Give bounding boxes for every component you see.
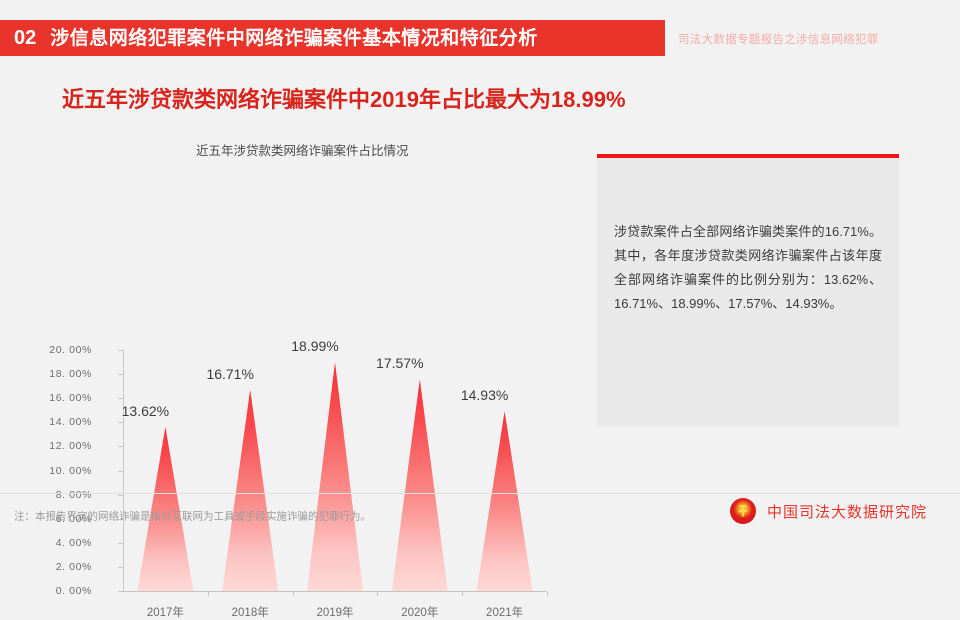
bar-2021年[interactable] xyxy=(477,411,533,591)
x-tick-mark xyxy=(293,592,294,596)
y-tick-mark xyxy=(118,591,123,592)
summary-panel-accent-bar xyxy=(597,154,899,158)
bar-2020年[interactable] xyxy=(392,379,448,591)
chart-y-axis: 20. 00%18. 00%16. 00%14. 00%12. 00%10. 0… xyxy=(20,350,104,591)
section-header-band: 02 涉信息网络犯罪案件中网络诈骗案件基本情况和特征分析 xyxy=(0,20,665,56)
y-axis-line xyxy=(123,350,124,591)
bar-value-label: 16.71% xyxy=(170,366,290,382)
bar-value-label: 17.57% xyxy=(340,355,460,371)
x-tick-label: 2021年 xyxy=(445,604,565,620)
court-emblem-icon xyxy=(730,498,756,524)
y-tick-mark xyxy=(118,422,123,423)
bar-cone xyxy=(222,390,278,591)
report-series-subtitle: 司法大数据专题报告之涉信息网络犯罪 xyxy=(678,31,879,47)
bar-cone xyxy=(392,379,448,591)
y-tick-label: 10. 00% xyxy=(49,465,92,477)
bar-value-label: 13.62% xyxy=(85,403,205,419)
y-tick-mark xyxy=(118,471,123,472)
y-tick-label: 18. 00% xyxy=(49,368,92,380)
y-tick-label: 2. 00% xyxy=(56,561,92,573)
y-tick-mark xyxy=(118,398,123,399)
chart-title: 近五年涉贷款类网络诈骗案件占比情况 xyxy=(196,140,409,159)
bar-cone xyxy=(477,411,533,591)
y-tick-mark xyxy=(118,543,123,544)
bar-2018年[interactable] xyxy=(222,390,278,591)
y-tick-mark xyxy=(118,446,123,447)
section-number: 02 xyxy=(14,28,36,48)
x-tick-mark xyxy=(377,592,378,596)
y-tick-mark xyxy=(118,350,123,351)
footer-logo-text: 中国司法大数据研究院 xyxy=(767,501,927,522)
y-tick-mark xyxy=(118,495,123,496)
x-tick-mark xyxy=(547,592,548,596)
section-title: 涉信息网络犯罪案件中网络诈骗案件基本情况和特征分析 xyxy=(50,29,538,48)
summary-panel: 涉贷款案件占全部网络诈骗类案件的16.71%。其中，各年度涉贷款类网络诈骗案件占… xyxy=(597,154,899,426)
x-tick-mark xyxy=(208,592,209,596)
y-tick-label: 8. 00% xyxy=(56,489,92,501)
chart-panel: 近五年涉贷款类网络诈骗案件占比情况 20. 00%18. 00%16. 00%1… xyxy=(20,132,580,492)
page-title: 近五年涉贷款类网络诈骗案件中2019年占比最大为18.99% xyxy=(62,82,626,114)
x-axis-line xyxy=(123,591,547,592)
bar-value-label: 14.93% xyxy=(425,387,545,403)
y-tick-label: 12. 00% xyxy=(49,440,92,452)
x-tick-mark xyxy=(462,592,463,596)
bar-cone xyxy=(307,362,363,591)
footer-divider xyxy=(0,493,960,494)
bar-value-label: 18.99% xyxy=(255,338,375,354)
y-tick-mark xyxy=(118,567,123,568)
y-tick-label: 4. 00% xyxy=(56,537,92,549)
y-tick-label: 20. 00% xyxy=(49,344,92,356)
footer-logo: 中国司法大数据研究院 xyxy=(730,498,927,524)
bar-2019年[interactable] xyxy=(307,362,363,591)
footer-note: 注：本报告界定的网络诈骗是指以互联网为工具或手段实施诈骗的犯罪行为。 xyxy=(14,509,371,524)
summary-panel-text: 涉贷款案件占全部网络诈骗类案件的16.71%。其中，各年度涉贷款类网络诈骗案件占… xyxy=(614,220,882,316)
y-tick-mark xyxy=(118,374,123,375)
y-tick-label: 0. 00% xyxy=(56,585,92,597)
